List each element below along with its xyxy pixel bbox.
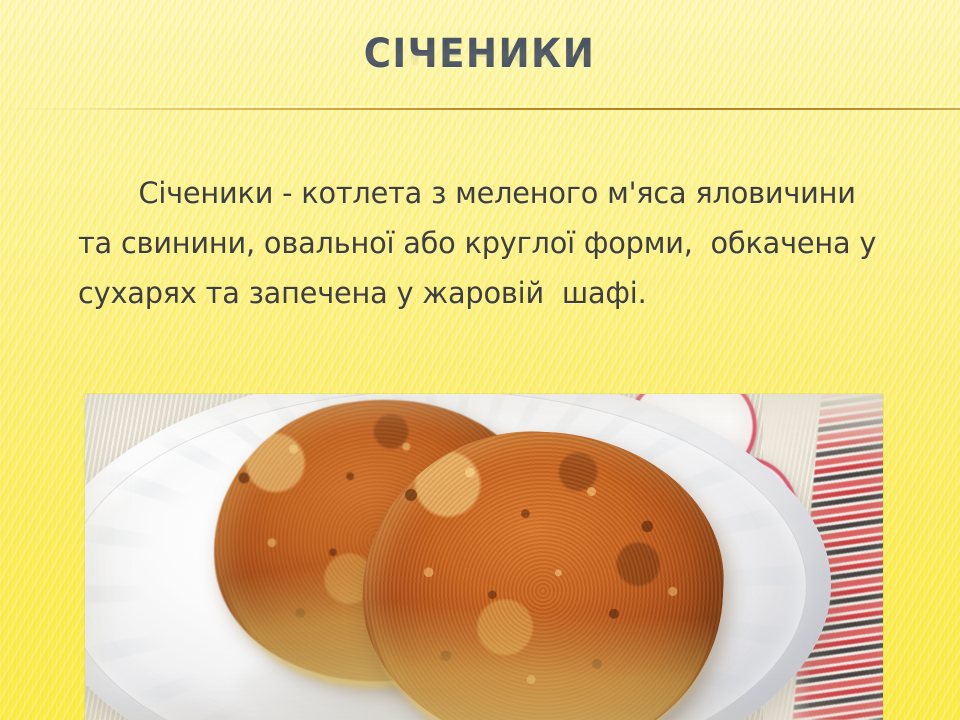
embroidery-top-fade [763,394,883,464]
slide-title-block: СІЧЕНИКИ СІЧЕНИКИ [0,34,960,108]
page-title: СІЧЕНИКИ [364,34,596,74]
title-divider [0,107,960,110]
food-photo [85,394,883,720]
divider-line [0,108,960,110]
slide-body-text: Січеники - котлета з меленого м'яса ялов… [78,168,878,318]
presentation-slide: СІЧЕНИКИ СІЧЕНИКИ Січеники - котлета з м… [0,0,960,720]
